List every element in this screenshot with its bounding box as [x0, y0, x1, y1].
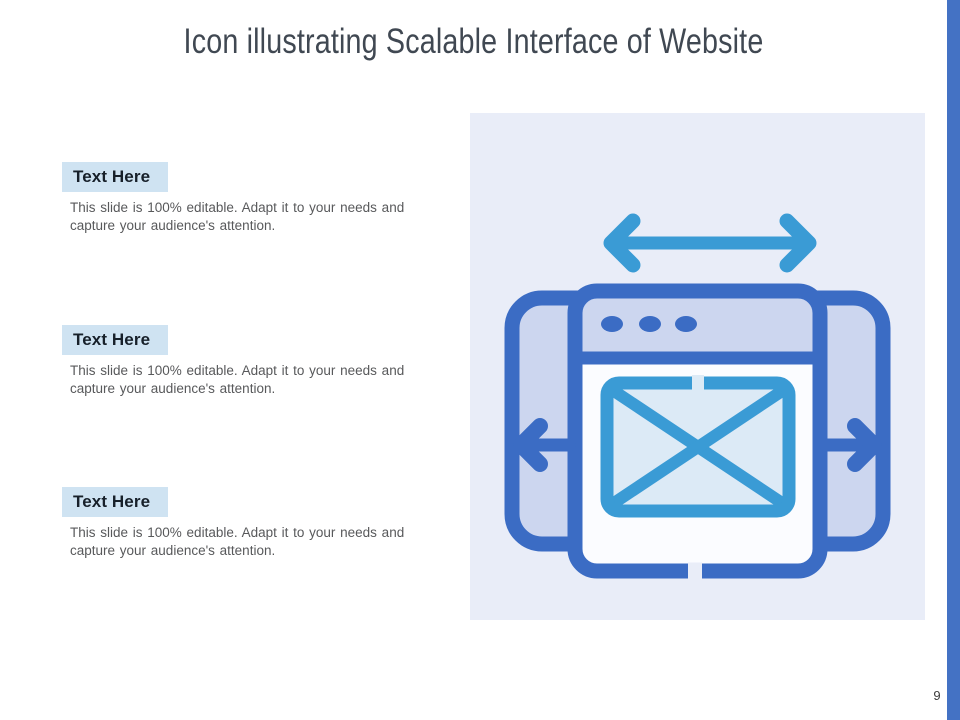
text-block: Text Here This slide is 100% editable. A… [62, 325, 434, 398]
scalable-browser-interface-icon [470, 113, 925, 620]
text-block: Text Here This slide is 100% editable. A… [62, 487, 434, 560]
text-block-body: This slide is 100% editable. Adapt it to… [62, 524, 432, 560]
icon-panel [470, 113, 925, 620]
title-bar-dots [601, 316, 697, 332]
text-block: Text Here This slide is 100% editable. A… [62, 162, 434, 235]
text-block-body: This slide is 100% editable. Adapt it to… [62, 199, 432, 235]
page-number: 9 [928, 688, 946, 703]
text-block-heading: Text Here [62, 162, 168, 192]
right-accent-bar [947, 0, 960, 720]
image-placeholder-icon [607, 383, 789, 511]
page-title: Icon illustrating Scalable Interface of … [85, 22, 862, 62]
slide-canvas: Icon illustrating Scalable Interface of … [0, 0, 960, 720]
horizontal-double-arrow [611, 221, 809, 265]
text-block-body: This slide is 100% editable. Adapt it to… [62, 362, 432, 398]
text-block-heading: Text Here [62, 325, 168, 355]
text-block-heading: Text Here [62, 487, 168, 517]
